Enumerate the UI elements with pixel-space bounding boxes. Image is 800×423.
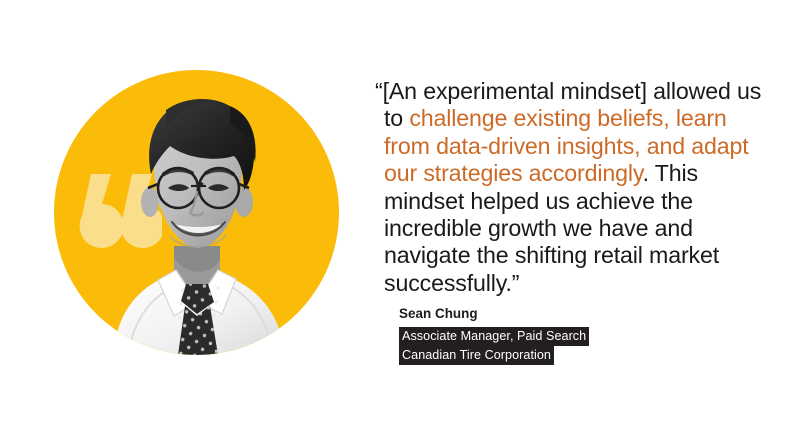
attribution-company: Canadian Tire Corporation — [399, 346, 554, 365]
attribution-title-row: Associate Manager, Paid Search — [399, 327, 589, 346]
attribution-title: Associate Manager, Paid Search — [399, 327, 589, 346]
attribution-name: Sean Chung — [399, 305, 729, 323]
quote-text: “[An experimental mindset] allowed us to… — [384, 78, 764, 297]
testimonial-card: “[An experimental mindset] allowed us to… — [0, 0, 800, 423]
attribution-company-chip: Canadian Tire Corporation — [399, 346, 589, 365]
quote-block: “[An experimental mindset] allowed us to… — [384, 78, 764, 297]
avatar-photo — [54, 70, 339, 355]
attribution-company-row: Canadian Tire Corporation — [399, 346, 589, 365]
attribution-title-chip: Associate Manager, Paid Search — [399, 327, 589, 346]
portrait-figure — [54, 70, 339, 355]
portrait-disc — [54, 70, 339, 355]
attribution: Sean Chung Associate Manager, Paid Searc… — [399, 305, 729, 365]
attribution-tagline: Associate Manager, Paid Search Canadian … — [399, 327, 589, 365]
